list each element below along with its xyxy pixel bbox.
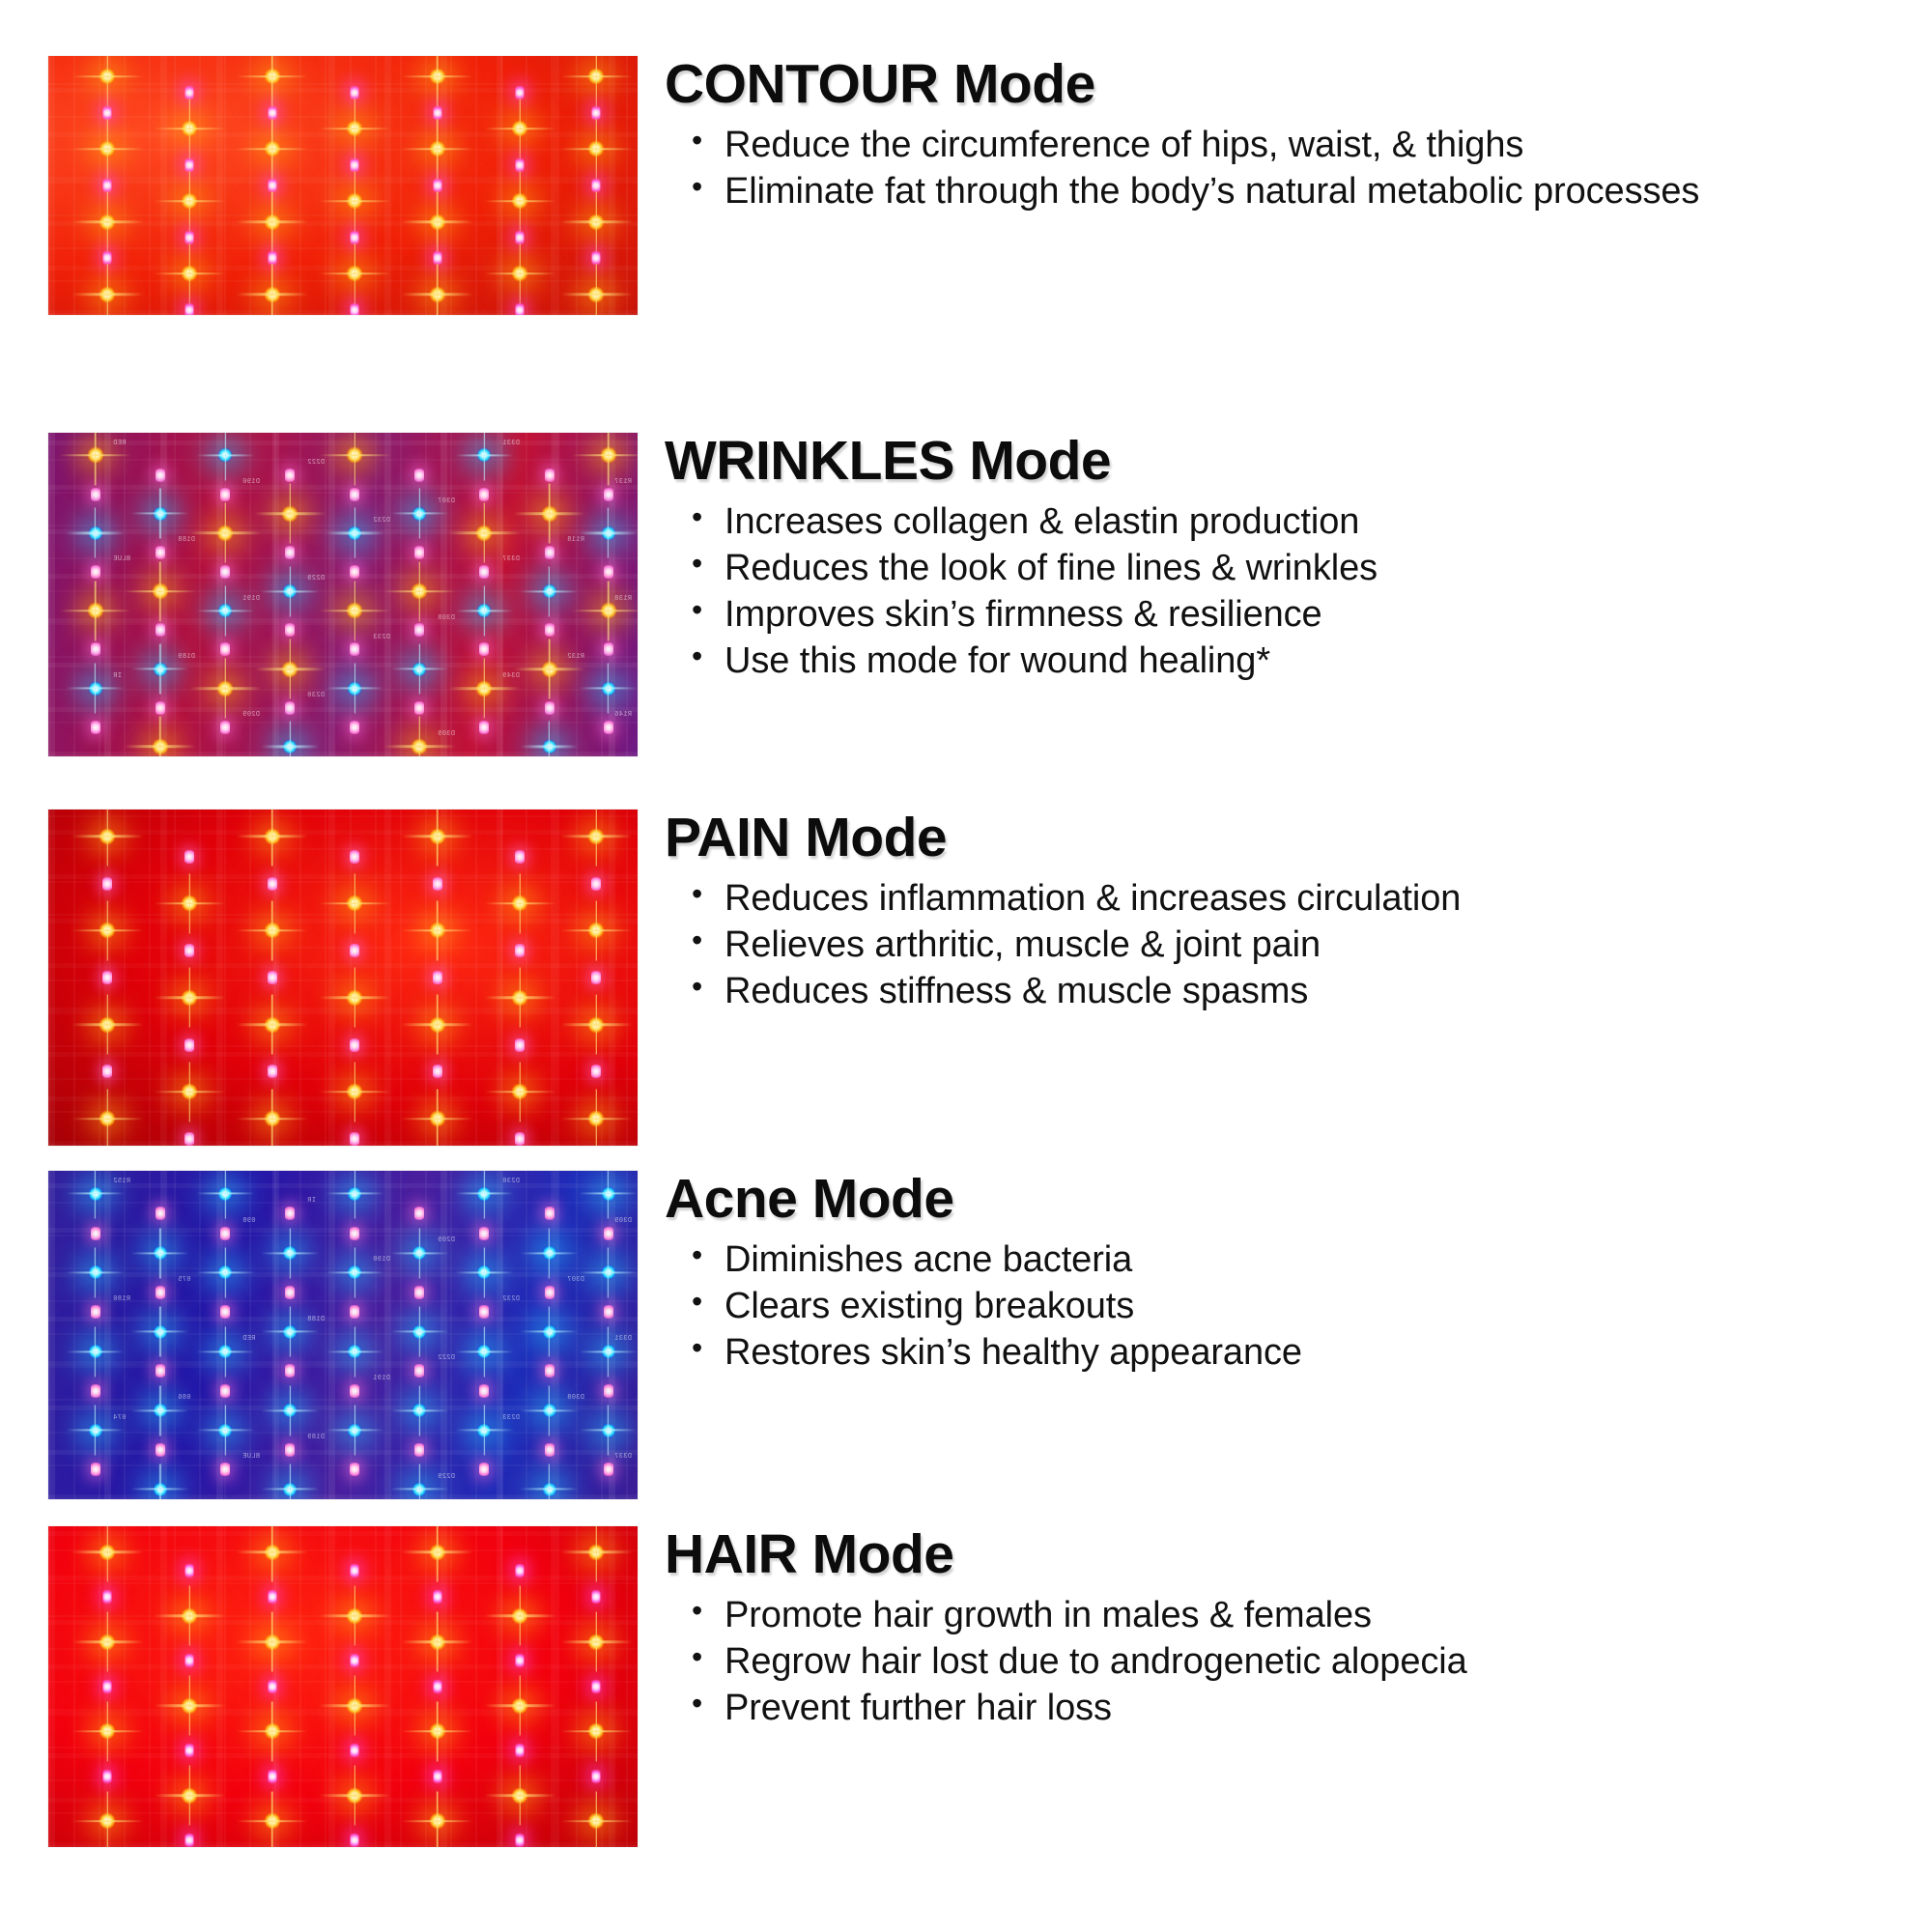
mode-title-acne: Acne Mode (665, 1171, 1884, 1227)
mode-bullets-contour: Reduce the circumference of hips, waist,… (665, 124, 1884, 213)
list-item: Reduces stiffness & muscle spasms (724, 970, 1884, 1013)
list-item: Regrow hair lost due to androgenetic alo… (724, 1640, 1884, 1684)
mode-text-acne: Acne Mode Diminishes acne bacteria Clear… (638, 1171, 1884, 1378)
list-item: Clears existing breakouts (724, 1285, 1884, 1328)
mode-title-hair: HAIR Mode (665, 1526, 1884, 1582)
led-panel-pain (48, 810, 638, 1146)
mode-title-pain: PAIN Mode (665, 810, 1884, 866)
mode-row-wrinkles: REDBLUEIRD188D189D190D191D209D222D229D23… (48, 433, 1884, 756)
mode-row-contour: CONTOUR Mode Reduce the circumference of… (48, 56, 1884, 315)
mode-title-contour: CONTOUR Mode (665, 56, 1884, 112)
list-item: Diminishes acne bacteria (724, 1238, 1884, 1282)
mode-text-hair: HAIR Mode Promote hair growth in males &… (638, 1526, 1884, 1733)
list-item: Reduces the look of fine lines & wrinkle… (724, 547, 1884, 590)
led-panel-acne: R152R180074075086098REDBLUEIRD188D189D19… (48, 1171, 638, 1499)
list-item: Reduces inflammation & increases circula… (724, 877, 1884, 921)
modes-infographic: CONTOUR Mode Reduce the circumference of… (0, 0, 1932, 1932)
list-item: Promote hair growth in males & females (724, 1594, 1884, 1637)
list-item: Eliminate fat through the body’s natural… (724, 170, 1884, 213)
mode-bullets-acne: Diminishes acne bacteria Clears existing… (665, 1238, 1884, 1374)
list-item: Improves skin’s firmness & resilience (724, 593, 1884, 637)
mode-row-hair: HAIR Mode Promote hair growth in males &… (48, 1526, 1884, 1847)
led-panel-contour (48, 56, 638, 315)
list-item: Relieves arthritic, muscle & joint pain (724, 923, 1884, 967)
mode-text-wrinkles: WRINKLES Mode Increases collagen & elast… (638, 433, 1884, 685)
list-item: Restores skin’s healthy appearance (724, 1331, 1884, 1375)
list-item: Reduce the circumference of hips, waist,… (724, 124, 1884, 167)
mode-text-contour: CONTOUR Mode Reduce the circumference of… (638, 56, 1884, 216)
led-panel-hair (48, 1526, 638, 1847)
mode-bullets-hair: Promote hair growth in males & females R… (665, 1594, 1884, 1729)
mode-bullets-pain: Reduces inflammation & increases circula… (665, 877, 1884, 1012)
mode-title-wrinkles: WRINKLES Mode (665, 433, 1884, 489)
list-item: Increases collagen & elastin production (724, 500, 1884, 544)
mode-row-acne: R152R180074075086098REDBLUEIRD188D189D19… (48, 1171, 1884, 1499)
led-panel-wrinkles: REDBLUEIRD188D189D190D191D209D222D229D23… (48, 433, 638, 756)
mode-text-pain: PAIN Mode Reduces inflammation & increas… (638, 810, 1884, 1016)
list-item: Prevent further hair loss (724, 1687, 1884, 1730)
mode-row-pain: PAIN Mode Reduces inflammation & increas… (48, 810, 1884, 1146)
mode-bullets-wrinkles: Increases collagen & elastin production … (665, 500, 1884, 682)
list-item: Use this mode for wound healing* (724, 639, 1884, 683)
